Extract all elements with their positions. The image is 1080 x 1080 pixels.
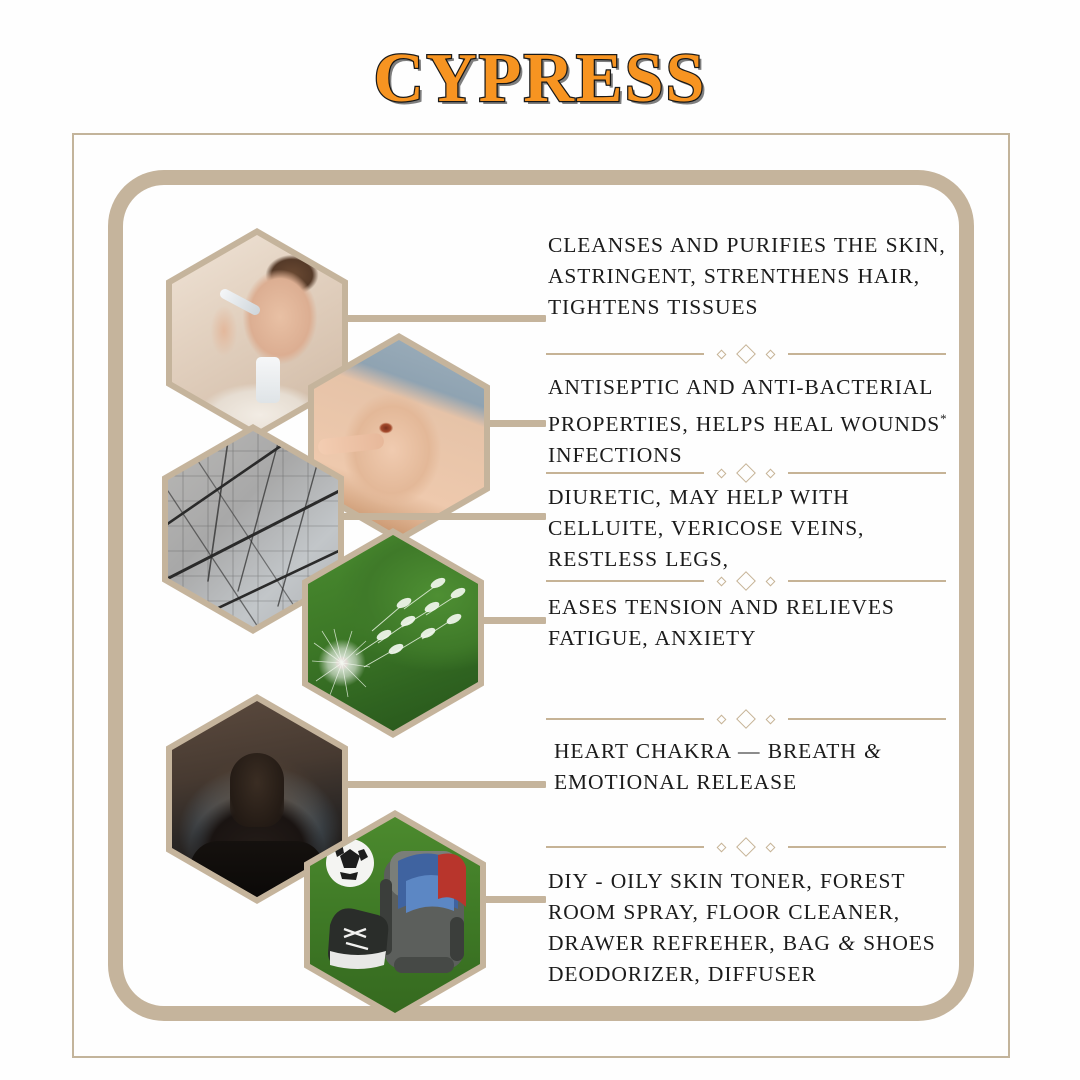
diamond-large-icon xyxy=(736,709,756,729)
benefit-text-part-2: EMOTIONAL RELEASE xyxy=(554,770,797,794)
gym-bag-ball-shoes-icon xyxy=(310,817,480,1013)
benefit-item-antiseptic: ANTISEPTIC AND ANTI-BACTERIAL PROPERTIES… xyxy=(548,372,948,471)
benefit-text-antiseptic: ANTISEPTIC AND ANTI-BACTERIAL PROPERTIES… xyxy=(548,372,948,471)
divider-rule-left xyxy=(546,472,704,474)
frame-edge-right xyxy=(959,330,974,861)
connector-line-tension xyxy=(482,617,546,624)
benefit-text-diuretic: DIURETIC, MAY HELP WITH CELLUITE, VERICO… xyxy=(548,482,948,575)
benefit-text-chakra: HEART CHAKRA — BREATH & EMOTIONAL RELEAS… xyxy=(554,736,954,798)
diamond-small-icon xyxy=(717,714,727,724)
benefit-text-part-1: HEART CHAKRA — BREATH xyxy=(554,739,857,763)
ampersand-glyph: & xyxy=(864,739,882,763)
divider-rule-right xyxy=(788,353,946,355)
connector-line-skin xyxy=(346,315,546,322)
benefit-text-diy: DIY - OILY SKIN TONER, FOREST ROOM SPRAY… xyxy=(548,866,948,990)
diamond-small-icon xyxy=(766,714,776,724)
hex-clip xyxy=(310,817,480,1013)
connector-line-antiseptic xyxy=(488,420,546,427)
divider-rule-right xyxy=(788,472,946,474)
infographic-poster: CYPRESS xyxy=(0,0,1080,1080)
diamond-small-icon xyxy=(717,842,727,852)
page-title: CYPRESS xyxy=(0,44,1080,114)
benefit-text-skin: CLEANSES AND PURIFIES THE SKIN, ASTRINGE… xyxy=(548,230,948,323)
divider-ornament xyxy=(546,710,946,728)
benefit-text-part-1: ANTISEPTIC AND ANTI-BACTERIAL PROPERTIES… xyxy=(548,375,940,436)
frame-edge-left xyxy=(108,330,123,861)
divider-rule-right xyxy=(788,718,946,720)
ampersand-glyph: & xyxy=(838,931,856,955)
dandelion-seed-icon xyxy=(308,535,478,731)
benefit-text-tension: EASES TENSION AND RELIEVES FATIGUE, ANXI… xyxy=(548,592,948,654)
divider-ornament xyxy=(546,838,946,856)
benefit-item-diy: DIY - OILY SKIN TONER, FOREST ROOM SPRAY… xyxy=(548,866,948,990)
divider-ornament xyxy=(546,345,946,363)
diamond-small-icon xyxy=(766,349,776,359)
dandelion-seeds-photo xyxy=(308,535,478,731)
connector-line-diy xyxy=(484,896,546,903)
diamond-large-icon xyxy=(736,344,756,364)
sports-gear-bag-photo xyxy=(310,817,480,1013)
benefit-item-chakra: HEART CHAKRA — BREATH & EMOTIONAL RELEAS… xyxy=(554,736,954,798)
diamond-small-icon xyxy=(717,349,727,359)
connector-line-diuretic xyxy=(342,513,546,520)
benefit-item-skin: CLEANSES AND PURIFIES THE SKIN, ASTRINGE… xyxy=(548,230,948,323)
divider-rule-left xyxy=(546,846,704,848)
frame-edge-top xyxy=(268,170,814,185)
divider-rule-left xyxy=(546,718,704,720)
diamond-small-icon xyxy=(766,842,776,852)
divider-rule-left xyxy=(546,580,704,582)
divider-rule-left xyxy=(546,353,704,355)
connector-line-chakra xyxy=(346,781,546,788)
benefit-item-diuretic: DIURETIC, MAY HELP WITH CELLUITE, VERICO… xyxy=(548,482,948,575)
hex-clip xyxy=(308,535,478,731)
frame-edge-bottom xyxy=(268,1006,814,1021)
benefit-text-part-2: INFECTIONS xyxy=(548,443,682,467)
divider-rule-right xyxy=(788,580,946,582)
benefit-item-tension: EASES TENSION AND RELIEVES FATIGUE, ANXI… xyxy=(548,592,948,654)
diamond-small-icon xyxy=(717,576,727,586)
diamond-small-icon xyxy=(766,576,776,586)
divider-rule-right xyxy=(788,846,946,848)
diamond-large-icon xyxy=(736,837,756,857)
footnote-marker-icon: * xyxy=(940,411,947,426)
